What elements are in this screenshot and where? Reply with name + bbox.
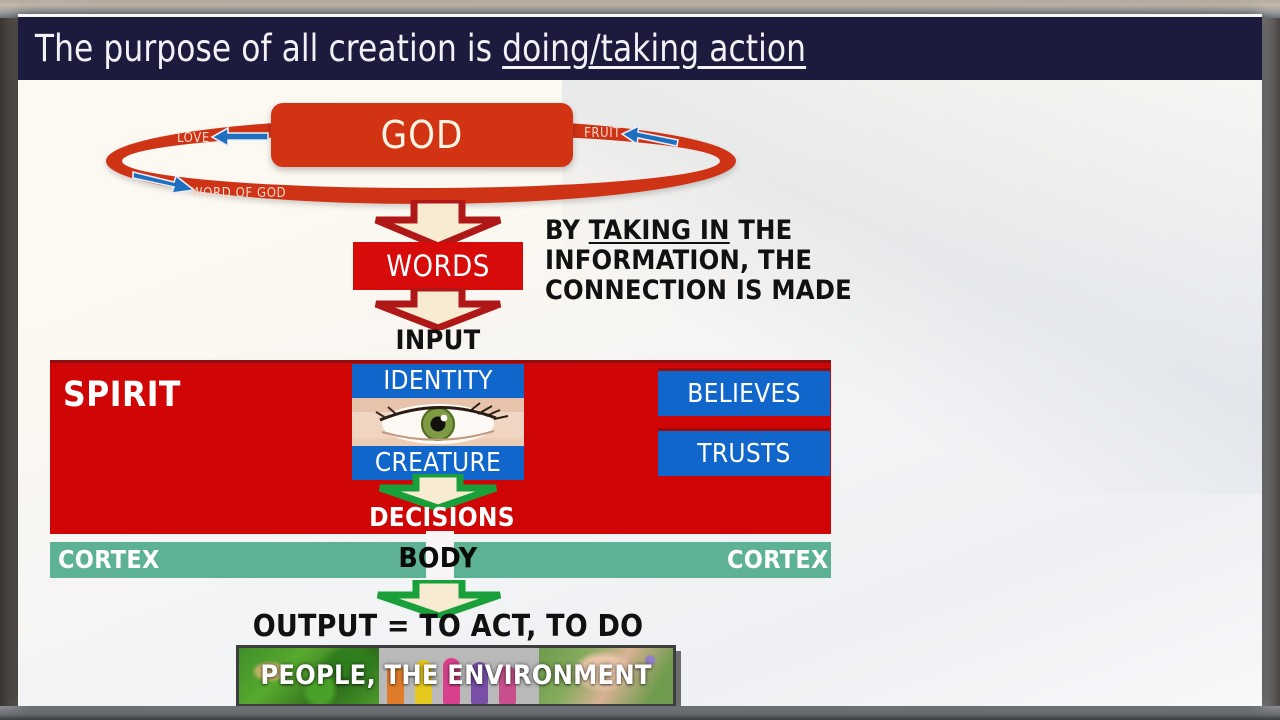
identity-creature-stack: IDENTITY CREAT — [352, 364, 524, 480]
output-label: OUTPUT = TO ACT, TO DO — [228, 612, 668, 642]
decisions-label: DECISIONS — [352, 505, 532, 531]
frame-bottom-edge — [0, 706, 1280, 720]
note-line-2: INFORMATION, THE — [545, 245, 812, 276]
result-photo-strip — [236, 645, 676, 706]
attribute-label-trusts: TRUSTS — [697, 441, 790, 467]
arrow-words-to-input-icon — [370, 288, 506, 330]
identity-band: IDENTITY — [352, 364, 524, 398]
hands-with-flowers-photo — [539, 648, 673, 704]
god-box: GOD — [271, 103, 573, 167]
slide-title-bar: The purpose of all creation is doing/tak… — [18, 17, 1262, 80]
arrow-god-to-words-icon — [370, 200, 506, 248]
human-eye-photo — [352, 398, 524, 446]
title-prefix: The purpose of all creation is — [35, 27, 502, 70]
god-label: GOD — [381, 116, 464, 154]
attribute-label-believes: BELIEVES — [687, 381, 801, 407]
note-suffix: THE — [730, 215, 793, 246]
green-leaves-photo — [239, 648, 379, 704]
spirit-label: SPIRIT — [63, 378, 181, 413]
cortex-label-right: CORTEX — [727, 547, 829, 572]
connection-note: BY TAKING IN THEINFORMATION, THECONNECTI… — [545, 216, 945, 306]
ring-label-love: LOVE — [177, 131, 210, 146]
colored-figurines-photo — [379, 648, 539, 704]
note-line-3: CONNECTION IS MADE — [545, 275, 852, 306]
title-emphasis: doing/taking action — [502, 27, 806, 70]
note-prefix: BY — [545, 215, 589, 246]
page-title: The purpose of all creation is doing/tak… — [18, 30, 806, 67]
words-label: WORDS — [386, 252, 490, 281]
slide-viewer: The purpose of all creation is doing/tak… — [0, 0, 1280, 720]
slide-canvas: The purpose of all creation is doing/tak… — [18, 14, 1262, 706]
word-of-god-arrow-icon — [130, 166, 198, 196]
attribute-box-trusts: TRUSTS — [658, 428, 830, 476]
input-label: INPUT — [353, 327, 523, 354]
fruit-arrow-icon — [618, 124, 680, 148]
body-label-2: BODY — [368, 544, 508, 572]
love-arrow-icon — [208, 126, 270, 148]
cortex-label-left: CORTEX — [58, 547, 160, 572]
note-emphasis: TAKING IN — [589, 215, 730, 246]
identity-label: IDENTITY — [383, 368, 492, 394]
ring-label-fruit: FRUIT — [584, 126, 621, 141]
words-box: WORDS — [353, 242, 523, 290]
ring-label-word-of-god: WORD OF GOD — [191, 186, 286, 201]
creature-label: CREATURE — [375, 450, 501, 476]
attribute-box-believes: BELIEVES — [658, 368, 830, 416]
